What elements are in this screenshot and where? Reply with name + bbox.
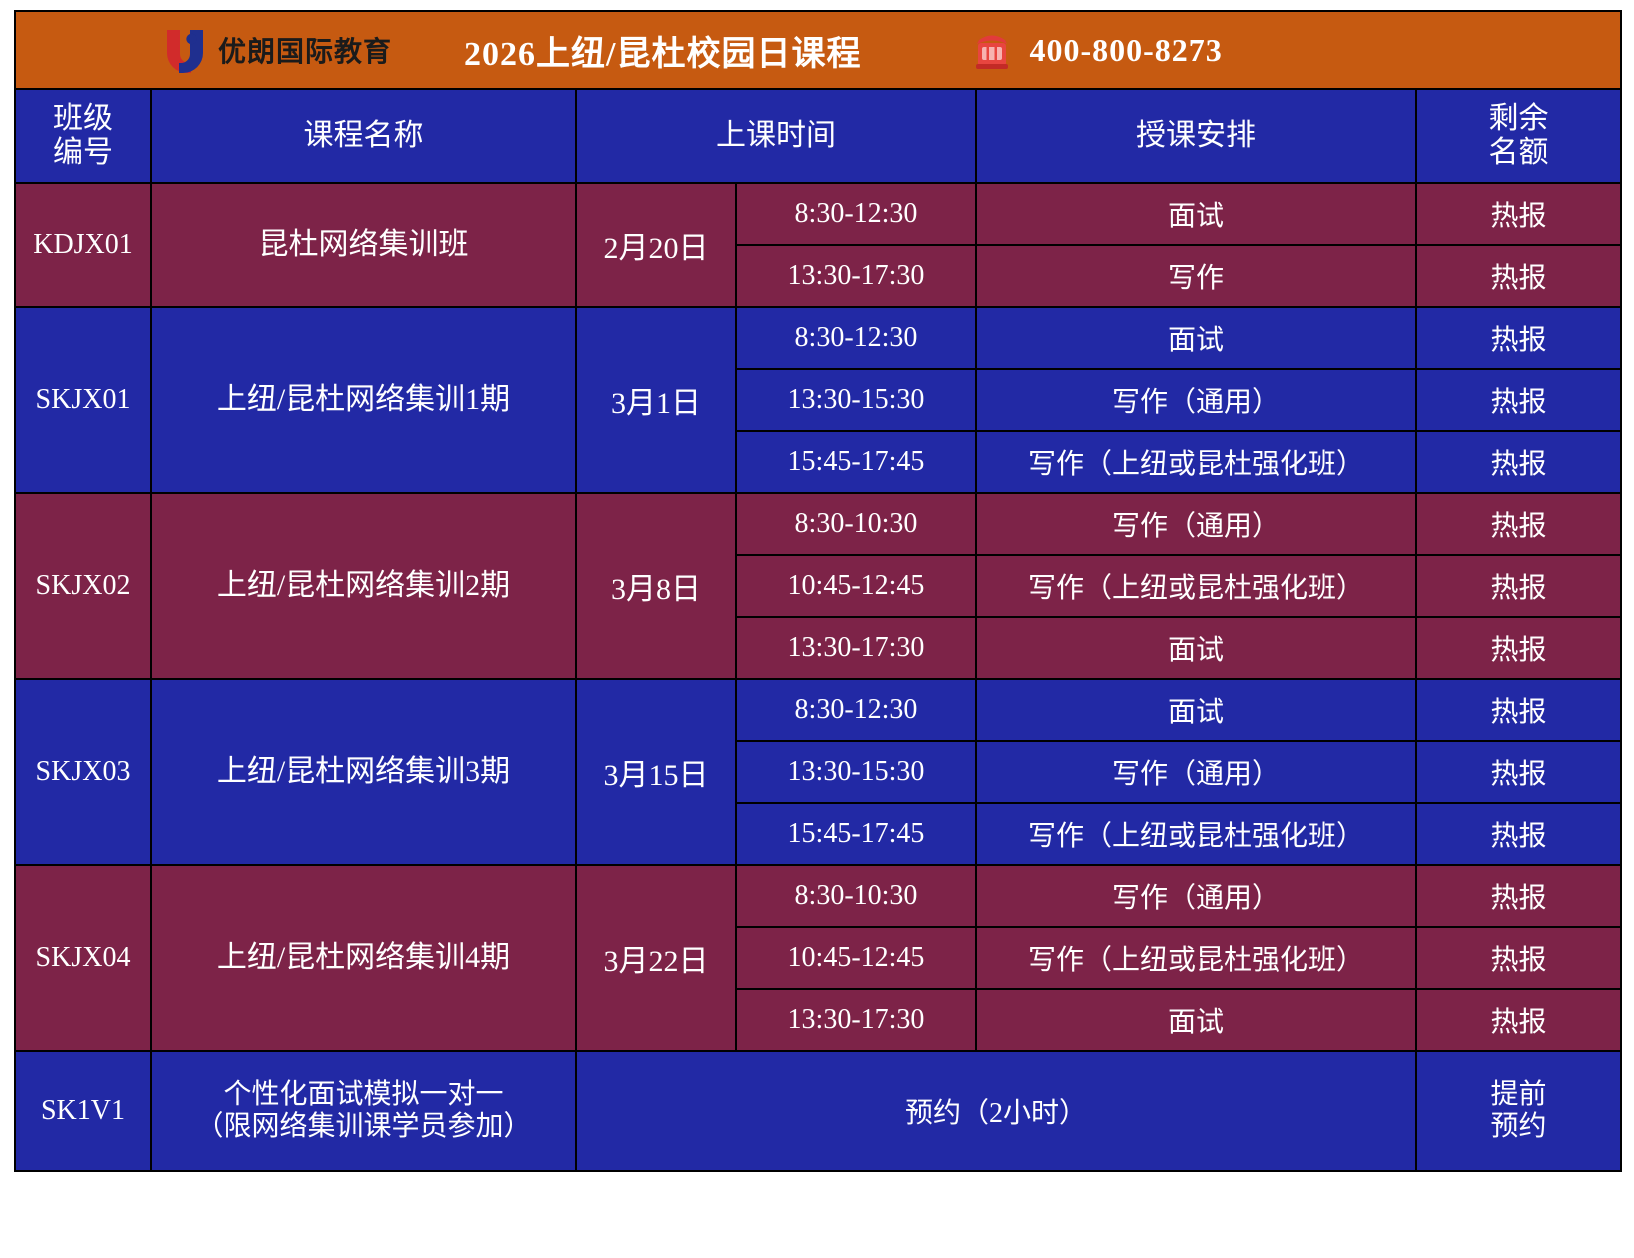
table-row-one-on-one: SK1V1个性化面试模拟一对一（限网络集训课学员参加）预约（2小时）提前预约 (15, 1051, 1621, 1171)
table-row: SKJX03上纽/昆杜网络集训3期3月15日8:30-12:30面试热报 (15, 679, 1621, 741)
cell-class-code: SKJX02 (15, 493, 151, 679)
cell-time-slot: 8:30-12:30 (736, 679, 976, 741)
cell-time-slot: 8:30-10:30 (736, 865, 976, 927)
quota-line2: 预约 (1491, 1111, 1547, 1142)
banner-title: 2026上纽/昆杜校园日课程 (464, 26, 861, 75)
cell-remaining-quota: 热报 (1416, 307, 1621, 369)
cell-course-name: 个性化面试模拟一对一（限网络集训课学员参加） (151, 1051, 576, 1171)
cell-booking-note: 预约（2小时） (576, 1051, 1416, 1171)
cell-arrangement: 写作（通用） (976, 369, 1416, 431)
cell-remaining-quota: 热报 (1416, 431, 1621, 493)
cell-remaining-quota: 热报 (1416, 865, 1621, 927)
cell-arrangement: 面试 (976, 183, 1416, 245)
cell-arrangement: 写作（上纽或昆杜强化班） (976, 803, 1416, 865)
schedule-page: 优朗国际教育 2026上纽/昆杜校园日课程 (0, 0, 1634, 1258)
column-header-row: 班级 编号 课程名称 上课时间 授课安排 剩余 名额 (15, 89, 1621, 183)
cell-arrangement: 写作（上纽或昆杜强化班） (976, 431, 1416, 493)
cell-arrangement: 写作（通用） (976, 741, 1416, 803)
course-name-line2: （限网络集训课学员参加） (195, 1111, 531, 1142)
cell-remaining-quota: 热报 (1416, 245, 1621, 307)
cell-time-slot: 13:30-15:30 (736, 741, 976, 803)
column-header-line2: 名额 (1489, 136, 1549, 169)
cell-remaining-quota: 热报 (1416, 679, 1621, 741)
cell-remaining-quota: 热报 (1416, 741, 1621, 803)
cell-remaining-quota: 热报 (1416, 617, 1621, 679)
column-header-class-time: 上课时间 (576, 89, 976, 183)
cell-remaining-quota: 热报 (1416, 555, 1621, 617)
cell-time-slot: 10:45-12:45 (736, 555, 976, 617)
table-row: SKJX01上纽/昆杜网络集训1期3月1日8:30-12:30面试热报 (15, 307, 1621, 369)
cell-arrangement: 写作（通用） (976, 493, 1416, 555)
cell-remaining-quota: 热报 (1416, 927, 1621, 989)
cell-course-name: 上纽/昆杜网络集训3期 (151, 679, 576, 865)
banner-row: 优朗国际教育 2026上纽/昆杜校园日课程 (15, 11, 1621, 89)
cell-arrangement: 面试 (976, 307, 1416, 369)
cell-arrangement: 写作（上纽或昆杜强化班） (976, 555, 1416, 617)
cell-course-date: 3月22日 (576, 865, 736, 1051)
telephone-icon (969, 27, 1015, 73)
cell-remaining-quota: 热报 (1416, 183, 1621, 245)
cell-remaining-quota: 热报 (1416, 989, 1621, 1051)
table-row: SKJX02上纽/昆杜网络集训2期3月8日8:30-10:30写作（通用）热报 (15, 493, 1621, 555)
column-header-line2: 编号 (53, 136, 113, 169)
cell-course-name: 上纽/昆杜网络集训1期 (151, 307, 576, 493)
cell-course-name: 上纽/昆杜网络集训2期 (151, 493, 576, 679)
cell-course-name: 昆杜网络集训班 (151, 183, 576, 307)
cell-arrangement: 面试 (976, 679, 1416, 741)
cell-course-date: 2月20日 (576, 183, 736, 307)
cell-arrangement: 写作 (976, 245, 1416, 307)
column-header-line1: 班级 (53, 102, 113, 135)
cell-remaining-quota: 热报 (1416, 369, 1621, 431)
cell-time-slot: 15:45-17:45 (736, 431, 976, 493)
cell-course-date: 3月8日 (576, 493, 736, 679)
column-header-class-code: 班级 编号 (15, 89, 151, 183)
cell-arrangement: 写作（通用） (976, 865, 1416, 927)
cell-time-slot: 13:30-17:30 (736, 245, 976, 307)
course-schedule-table: 优朗国际教育 2026上纽/昆杜校园日课程 (14, 10, 1622, 1172)
cell-class-code: KDJX01 (15, 183, 151, 307)
column-header-line1: 剩余 (1489, 102, 1549, 135)
cell-remaining-quota: 热报 (1416, 803, 1621, 865)
cell-course-name: 上纽/昆杜网络集训4期 (151, 865, 576, 1051)
cell-time-slot: 8:30-10:30 (736, 493, 976, 555)
cell-class-code: SK1V1 (15, 1051, 151, 1171)
brand-logo: 优朗国际教育 (164, 26, 392, 74)
cell-time-slot: 13:30-17:30 (736, 617, 976, 679)
cell-remaining-quota: 热报 (1416, 493, 1621, 555)
cell-arrangement: 写作（上纽或昆杜强化班） (976, 927, 1416, 989)
course-name-line1: 个性化面试模拟一对一 (223, 1079, 503, 1110)
column-header-remaining-quota: 剩余 名额 (1416, 89, 1621, 183)
cell-class-code: SKJX03 (15, 679, 151, 865)
table-row: KDJX01昆杜网络集训班2月20日8:30-12:30面试热报 (15, 183, 1621, 245)
cell-time-slot: 10:45-12:45 (736, 927, 976, 989)
column-header-arrangement: 授课安排 (976, 89, 1416, 183)
cell-time-slot: 8:30-12:30 (736, 307, 976, 369)
cell-arrangement: 面试 (976, 989, 1416, 1051)
cell-time-slot: 13:30-15:30 (736, 369, 976, 431)
cell-class-code: SKJX04 (15, 865, 151, 1051)
table-row: SKJX04上纽/昆杜网络集训4期3月22日8:30-10:30写作（通用）热报 (15, 865, 1621, 927)
cell-class-code: SKJX01 (15, 307, 151, 493)
cell-course-date: 3月1日 (576, 307, 736, 493)
ulink-u-logo-icon (164, 26, 206, 74)
contact-phone[interactable]: 400-800-8273 (969, 27, 1222, 73)
banner: 优朗国际教育 2026上纽/昆杜校园日课程 (15, 11, 1621, 89)
cell-time-slot: 8:30-12:30 (736, 183, 976, 245)
cell-course-date: 3月15日 (576, 679, 736, 865)
cell-time-slot: 13:30-17:30 (736, 989, 976, 1051)
cell-time-slot: 15:45-17:45 (736, 803, 976, 865)
brand-name: 优朗国际教育 (218, 30, 392, 70)
cell-arrangement: 面试 (976, 617, 1416, 679)
column-header-course-name: 课程名称 (151, 89, 576, 183)
cell-remaining-quota: 提前预约 (1416, 1051, 1621, 1171)
phone-number: 400-800-8273 (1029, 32, 1222, 69)
quota-line1: 提前 (1491, 1079, 1547, 1110)
